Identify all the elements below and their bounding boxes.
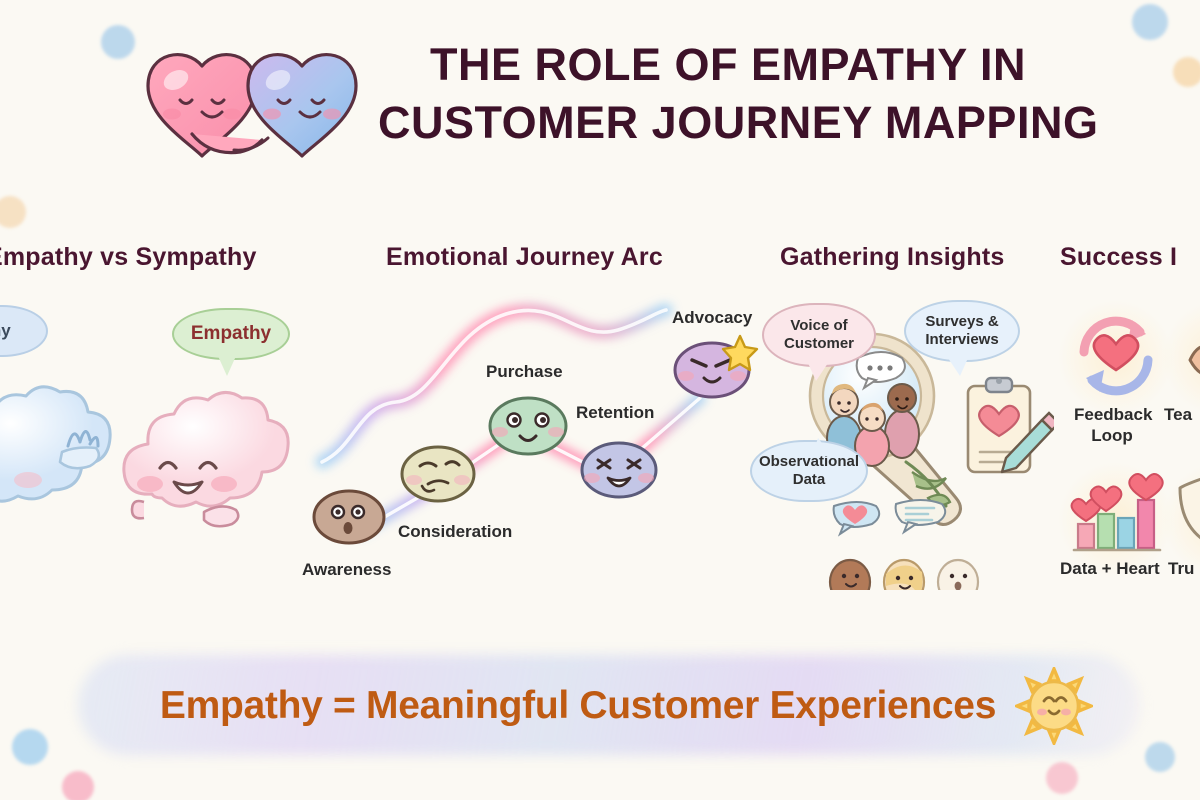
journey-label-awareness: Awareness bbox=[302, 560, 391, 580]
empathy-speech-bubble: Empathy bbox=[172, 308, 290, 360]
people-row-icon bbox=[824, 498, 988, 590]
decor-dot-7 bbox=[1145, 742, 1175, 772]
title-line-2: CUSTOMER JOURNEY MAPPING bbox=[378, 94, 1078, 152]
journey-label-retention: Retention bbox=[576, 403, 654, 423]
insight-bubble-label: Voice of Customer bbox=[764, 317, 874, 352]
success-label-team: Tea bbox=[1164, 404, 1192, 425]
journey-stage-advocacy-icon bbox=[672, 330, 760, 402]
journey-label-purchase: Purchase bbox=[486, 362, 563, 382]
surveys-bubble-tail bbox=[948, 358, 968, 376]
observational-bubble-tail bbox=[812, 438, 832, 456]
insight-bubble-label: Observational Data bbox=[752, 453, 866, 488]
team-hands-icon bbox=[1172, 310, 1200, 402]
sympathy-speech-bubble: thy bbox=[0, 305, 48, 357]
success-label-trust: Tru bbox=[1168, 558, 1194, 579]
journey-stage-retention-icon bbox=[578, 436, 660, 502]
insight-bubble-label: Surveys & Interviews bbox=[906, 313, 1018, 348]
smiling-sun-icon bbox=[1015, 667, 1093, 745]
section-heading-emotional-journey-arc: Emotional Journey Arc bbox=[386, 243, 663, 272]
decor-dot-1 bbox=[0, 196, 26, 228]
title-line-1: THE ROLE OF EMPATHY IN bbox=[378, 36, 1078, 94]
section-heading-success: Success I bbox=[1060, 243, 1177, 272]
header: THE ROLE OF EMPATHY IN CUSTOMER JOURNEY … bbox=[0, 28, 1200, 178]
journey-label-consideration: Consideration bbox=[398, 522, 512, 542]
insight-bubble-voice-of-customer: Voice of Customer bbox=[762, 303, 876, 367]
sympathy-label: thy bbox=[0, 321, 11, 340]
section-heading-gathering-insights: Gathering Insights bbox=[780, 243, 1004, 272]
journey-label-advocacy: Advocacy bbox=[672, 308, 752, 328]
success-label-feedback-loop: Feedback Loop bbox=[1074, 404, 1150, 446]
section-heading-empathy-vs-sympathy: Empathy vs Sympathy bbox=[0, 243, 257, 272]
journey-stage-awareness-icon bbox=[310, 484, 388, 546]
empathy-label: Empathy bbox=[191, 323, 271, 344]
journey-stage-consideration-icon bbox=[398, 440, 478, 504]
two-hugging-hearts-icon bbox=[140, 46, 370, 171]
journey-stage-purchase-icon bbox=[486, 392, 570, 458]
decor-dot-6 bbox=[1046, 762, 1078, 794]
voice-bubble-tail bbox=[808, 363, 828, 381]
bottom-banner-text: Empathy = Meaningful Customer Experience… bbox=[78, 676, 1078, 736]
decor-dot-5 bbox=[62, 771, 94, 800]
insight-bubble-observational-data: Observational Data bbox=[750, 440, 868, 502]
feedback-loop-heart-icon bbox=[1068, 308, 1164, 404]
decor-dot-4 bbox=[12, 729, 48, 765]
infographic-canvas: THE ROLE OF EMPATHY IN CUSTOMER JOURNEY … bbox=[0, 0, 1200, 800]
success-label-data-heart: Data + Heart bbox=[1060, 558, 1160, 579]
empathy-cloud-icon bbox=[108, 372, 298, 550]
trust-shield-icon bbox=[1176, 470, 1200, 558]
clipboard-heart-icon bbox=[958, 372, 1054, 497]
page-title: THE ROLE OF EMPATHY IN CUSTOMER JOURNEY … bbox=[378, 36, 1078, 152]
insight-bubble-surveys-interviews: Surveys & Interviews bbox=[904, 300, 1020, 362]
heart-bar-chart-icon bbox=[1064, 470, 1168, 558]
